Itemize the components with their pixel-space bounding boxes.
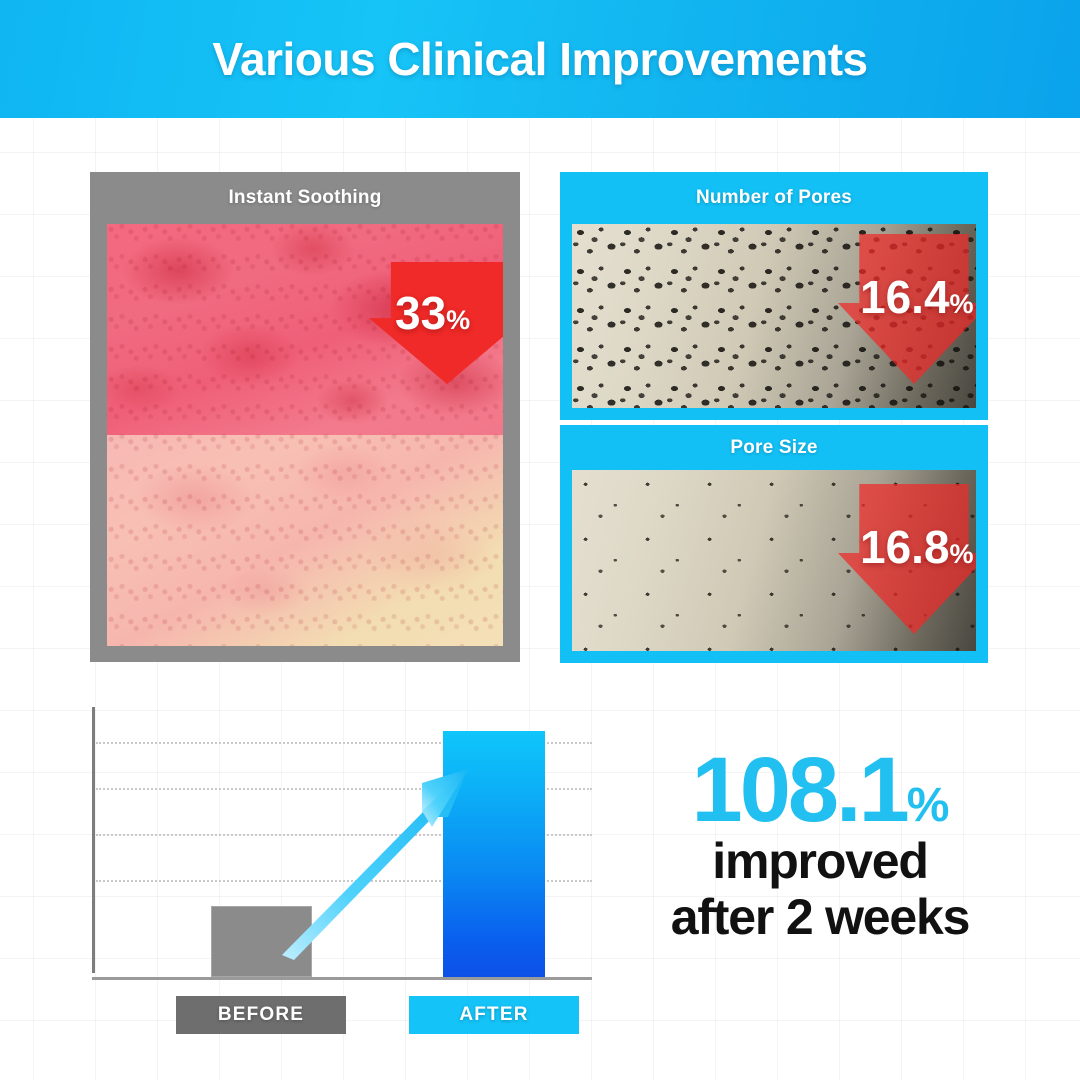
page-title: Various Clinical Improvements	[212, 32, 867, 86]
chart-label-after: AFTER	[409, 996, 579, 1034]
number-of-pores-percent: 16.4%	[860, 274, 974, 320]
panel-pore-size-label: Pore Size	[730, 437, 817, 459]
chart-label-before: BEFORE	[176, 996, 346, 1034]
panel-number-of-pores-title-bar: Number of Pores	[560, 172, 988, 224]
instant-soothing-skin-photo: 33%	[107, 224, 503, 646]
number-of-pores-percent-value: 16.4	[860, 271, 950, 323]
before-after-bar-chart	[92, 700, 592, 980]
panel-number-of-pores: Number of Pores 16.4%	[560, 172, 988, 420]
pore-size-percent-value: 16.8	[860, 521, 950, 573]
instant-soothing-percent-symbol: %	[446, 305, 470, 335]
chart-x-axis	[92, 977, 592, 980]
infographic-page: Various Clinical Improvements Instant So…	[0, 0, 1080, 1080]
result-percent-value: 108.1	[692, 739, 907, 841]
panel-instant-soothing-label: Instant Soothing	[228, 187, 381, 209]
instant-soothing-percent-value: 33	[395, 287, 446, 339]
number-of-pores-percent-symbol: %	[950, 289, 974, 319]
page-header: Various Clinical Improvements	[0, 0, 1080, 118]
number-of-pores-skin-photo: 16.4%	[572, 224, 976, 408]
result-summary: 108.1% improved after 2 weeks	[620, 748, 1020, 945]
result-percent-symbol: %	[907, 779, 949, 832]
pore-size-skin-photo: 16.8%	[572, 470, 976, 651]
panel-instant-soothing-title-bar: Instant Soothing	[90, 172, 520, 224]
instant-soothing-percent: 33%	[395, 290, 470, 336]
pore-size-percent-symbol: %	[950, 539, 974, 569]
pore-size-percent: 16.8%	[860, 524, 974, 570]
growth-arrow-icon	[272, 755, 482, 965]
result-line-2: after 2 weeks	[620, 889, 1020, 945]
panel-pore-size: Pore Size 16.8%	[560, 425, 988, 663]
panel-number-of-pores-label: Number of Pores	[696, 187, 852, 209]
panel-pore-size-title-bar: Pore Size	[560, 425, 988, 470]
result-percent: 108.1%	[620, 748, 1020, 833]
chart-y-axis	[92, 707, 95, 973]
panel-instant-soothing: Instant Soothing 33%	[90, 172, 520, 662]
result-line-1: improved	[620, 833, 1020, 889]
